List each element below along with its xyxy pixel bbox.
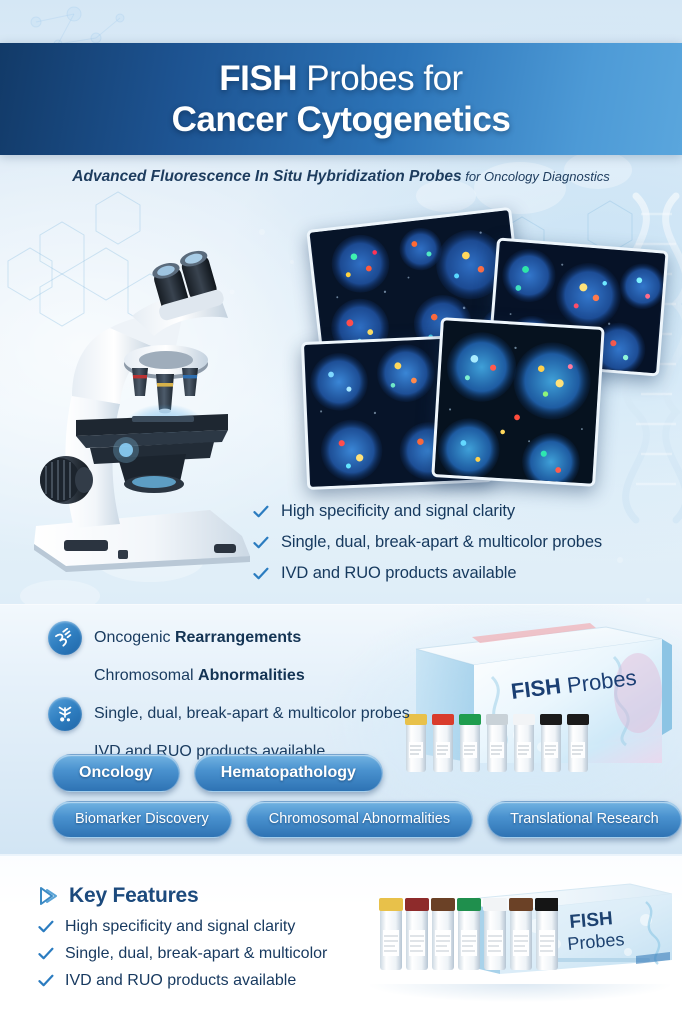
product-box-bottom-brand: FISH: [569, 908, 614, 933]
page-title-line1: FISH Probes for: [219, 61, 462, 97]
checklist-item: Single, dual, break-apart & multicolor p…: [253, 533, 673, 552]
application-tags: Oncology Hematopathology Biomarker Disco…: [0, 754, 682, 847]
mid-row-plain: Oncogenic: [94, 629, 175, 646]
check-icon: [253, 536, 269, 550]
microscope-illustration: [14, 244, 264, 574]
tag-oncology[interactable]: Oncology: [52, 754, 180, 792]
spacer-icon: [48, 659, 82, 693]
checklist-label: Single, dual, break-apart & multicolor p…: [281, 533, 602, 552]
key-features-section: Key Features High specificity and signal…: [0, 856, 682, 1024]
checklist-item: High specificity and signal clarity: [253, 502, 673, 521]
tag-hematopathology[interactable]: Hematopathology: [194, 754, 383, 792]
mid-row-probe-types: Single, dual, break-apart & multicolor p…: [48, 697, 468, 731]
subtitle-strong: Advanced Fluorescence In Situ Hybridizat…: [72, 168, 461, 185]
header-banner: FISH Probes for Cancer Cytogenetics: [0, 43, 682, 155]
chromosome-icon: [48, 697, 82, 731]
tag-translational-research[interactable]: Translational Research: [487, 801, 682, 838]
checklist-label: High specificity and signal clarity: [281, 502, 515, 521]
mid-row-bold: Rearrangements: [175, 629, 301, 646]
check-icon: [38, 974, 54, 988]
poster-root: FISH Probes for Cancer Cytogenetics Adva…: [0, 0, 682, 1024]
subtitle-light: for Oncology Diagnostics: [462, 169, 610, 184]
mid-row-oncogenic-rearrangements: Oncogenic Rearrangements: [48, 621, 468, 655]
tag-biomarker-discovery[interactable]: Biomarker Discovery: [52, 801, 232, 838]
check-icon: [38, 920, 54, 934]
feature-label: High specificity and signal clarity: [65, 918, 295, 936]
dna-strand-icon: [48, 621, 82, 655]
mid-feature-rows: Oncogenic Rearrangements Chromosomal Abn…: [48, 621, 468, 773]
mid-row-plain: Single, dual, break-apart & multicolor p…: [94, 705, 410, 722]
feature-item: High specificity and signal clarity: [38, 918, 327, 936]
key-features-list: High specificity and signal clarity Sing…: [38, 918, 327, 999]
mid-row-bold: Abnormalities: [198, 667, 305, 684]
check-icon: [253, 567, 269, 581]
checklist-label: IVD and RUO products available: [281, 564, 516, 583]
product-reflection: [370, 984, 670, 1002]
mid-row-plain: Chromosomal: [94, 667, 198, 684]
page-title-line2: Cancer Cytogenetics: [172, 102, 511, 138]
fish-micrograph-4: [431, 317, 604, 487]
mid-row-label: Chromosomal Abnormalities: [94, 667, 305, 685]
check-icon: [253, 505, 269, 519]
feature-label: IVD and RUO products available: [65, 972, 296, 990]
page-subtitle: Advanced Fluorescence In Situ Hybridizat…: [0, 168, 682, 186]
mid-row-chromosomal-abnormalities: Chromosomal Abnormalities: [48, 659, 468, 693]
feature-label: Single, dual, break-apart & multicolor: [65, 945, 327, 963]
tag-row-1: Oncology Hematopathology: [0, 754, 682, 792]
tag-row-2: Biomarker Discovery Chromosomal Abnormal…: [0, 801, 682, 838]
title-brand: FISH: [219, 59, 297, 98]
key-features-header: Key Features: [38, 884, 199, 908]
feature-item: IVD and RUO products available: [38, 972, 327, 990]
key-features-title: Key Features: [69, 884, 199, 908]
feature-item: Single, dual, break-apart & multicolor: [38, 945, 327, 963]
check-icon: [38, 947, 54, 961]
fish-image-collage: [300, 210, 672, 500]
hero-section: High specificity and signal clarity Sing…: [0, 196, 682, 600]
mid-row-label: Oncogenic Rearrangements: [94, 629, 301, 647]
vial-row-bottom: [378, 890, 558, 984]
title-rest: Probes for: [297, 59, 463, 98]
tag-chromosomal-abnormalities[interactable]: Chromosomal Abnormalities: [246, 801, 473, 838]
checklist-item: IVD and RUO products available: [253, 564, 673, 583]
double-chevron-icon: [38, 885, 60, 907]
mid-row-label: Single, dual, break-apart & multicolor p…: [94, 705, 410, 723]
hero-checklist: High specificity and signal clarity Sing…: [253, 502, 673, 583]
